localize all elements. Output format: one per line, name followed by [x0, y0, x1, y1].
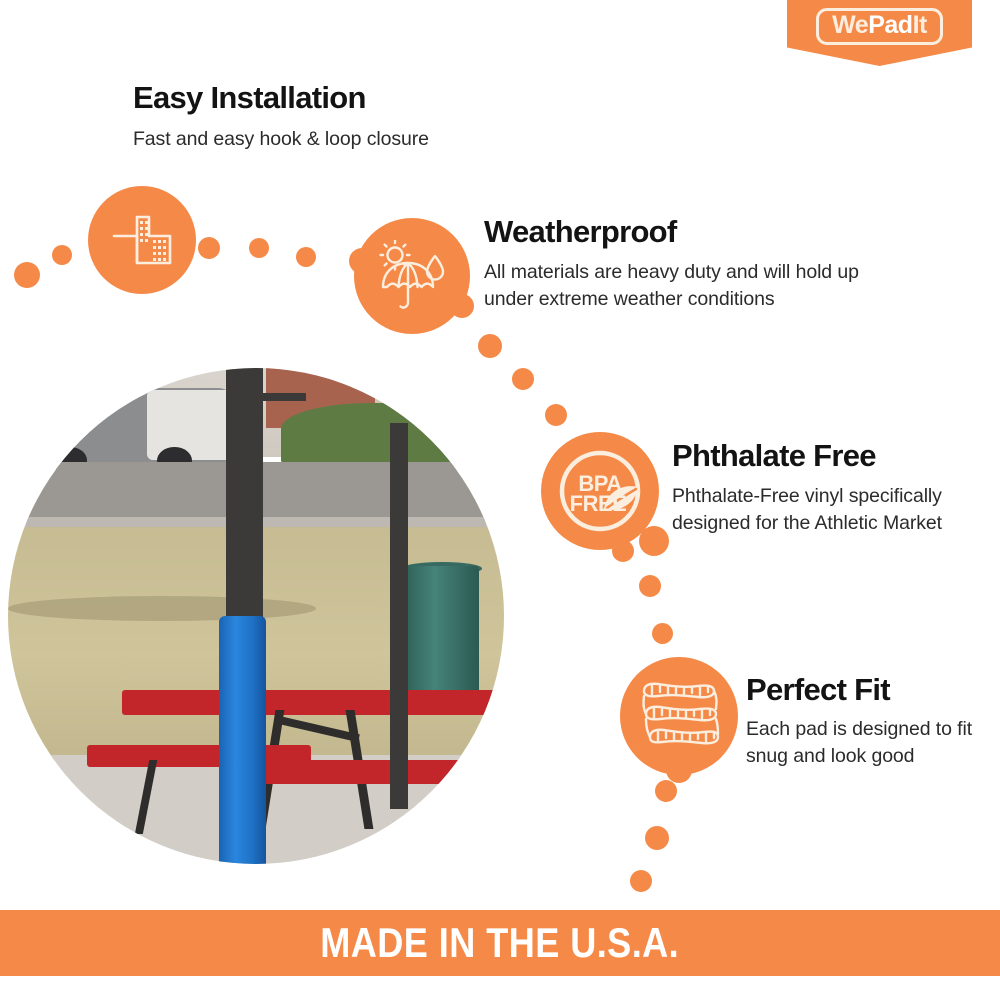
logo-frame: WePadIt — [816, 8, 943, 45]
product-photo-scene — [8, 368, 504, 864]
logo-text-we: We — [832, 11, 868, 39]
blob-lobe — [349, 248, 375, 274]
trail-dot — [198, 237, 220, 259]
photo-blue-pole-pad — [219, 616, 266, 864]
made-in-usa-banner: MADE IN THE U.S.A. — [0, 910, 1000, 976]
trail-dot — [652, 623, 673, 644]
measuring-tape-icon — [638, 675, 720, 757]
building-icon — [111, 214, 173, 266]
trail-dot — [639, 575, 661, 597]
blob-lobe — [666, 757, 692, 783]
infographic-page: WePadIt Easy Installation Fast and easy … — [0, 0, 1000, 987]
photo-picnic-tabletop — [122, 690, 504, 715]
trail-dot — [296, 247, 316, 267]
feature-description-easy-installation: Fast and easy hook & loop closure — [133, 126, 563, 153]
trail-dot — [545, 404, 567, 426]
blob-lobe — [450, 294, 474, 318]
feature-icon-circle-easy-installation — [88, 186, 196, 294]
brand-logo-badge: WePadIt — [787, 0, 972, 66]
logo-wordmark: WePadIt — [832, 11, 927, 39]
feature-icon-circle-perfect-fit — [620, 657, 738, 775]
feature-title-perfect-fit: Perfect Fit — [746, 672, 890, 708]
trail-dot — [512, 368, 534, 390]
trail-dot — [630, 870, 652, 892]
free-label: FREE — [570, 491, 627, 516]
trail-dot — [478, 334, 502, 358]
feature-title-phthalate-free: Phthalate Free — [672, 438, 876, 474]
feature-description-weatherproof: All materials are heavy duty and will ho… — [484, 259, 904, 313]
sun-umbrella-raindrop-icon — [375, 240, 449, 312]
logo-text-it: It — [913, 11, 927, 39]
product-photo — [8, 368, 504, 864]
made-in-usa-text: MADE IN THE U.S.A. — [321, 919, 680, 967]
trail-dot — [14, 262, 40, 288]
photo-pole-main — [226, 368, 263, 626]
photo-pole-right — [390, 423, 408, 810]
photo-trash-barrel — [405, 566, 479, 700]
trail-dot — [52, 245, 72, 265]
feature-description-perfect-fit: Each pad is designed to fit snug and loo… — [746, 716, 976, 770]
photo-bench — [256, 760, 504, 784]
photo-dirt-patch — [8, 596, 316, 621]
trail-dot — [249, 238, 269, 258]
feature-title-weatherproof: Weatherproof — [484, 214, 677, 250]
trail-dot — [645, 826, 669, 850]
trail-dot — [655, 780, 677, 802]
logo-text-pad: Pad — [868, 11, 912, 39]
bpa-free-leaf-icon: BPA FREE — [552, 443, 648, 539]
feature-icon-circle-phthalate-free: BPA FREE — [541, 432, 659, 550]
feature-description-phthalate-free: Phthalate-Free vinyl specifically design… — [672, 483, 942, 537]
feature-icon-circle-weatherproof — [354, 218, 470, 334]
feature-title-easy-installation: Easy Installation — [133, 80, 366, 116]
